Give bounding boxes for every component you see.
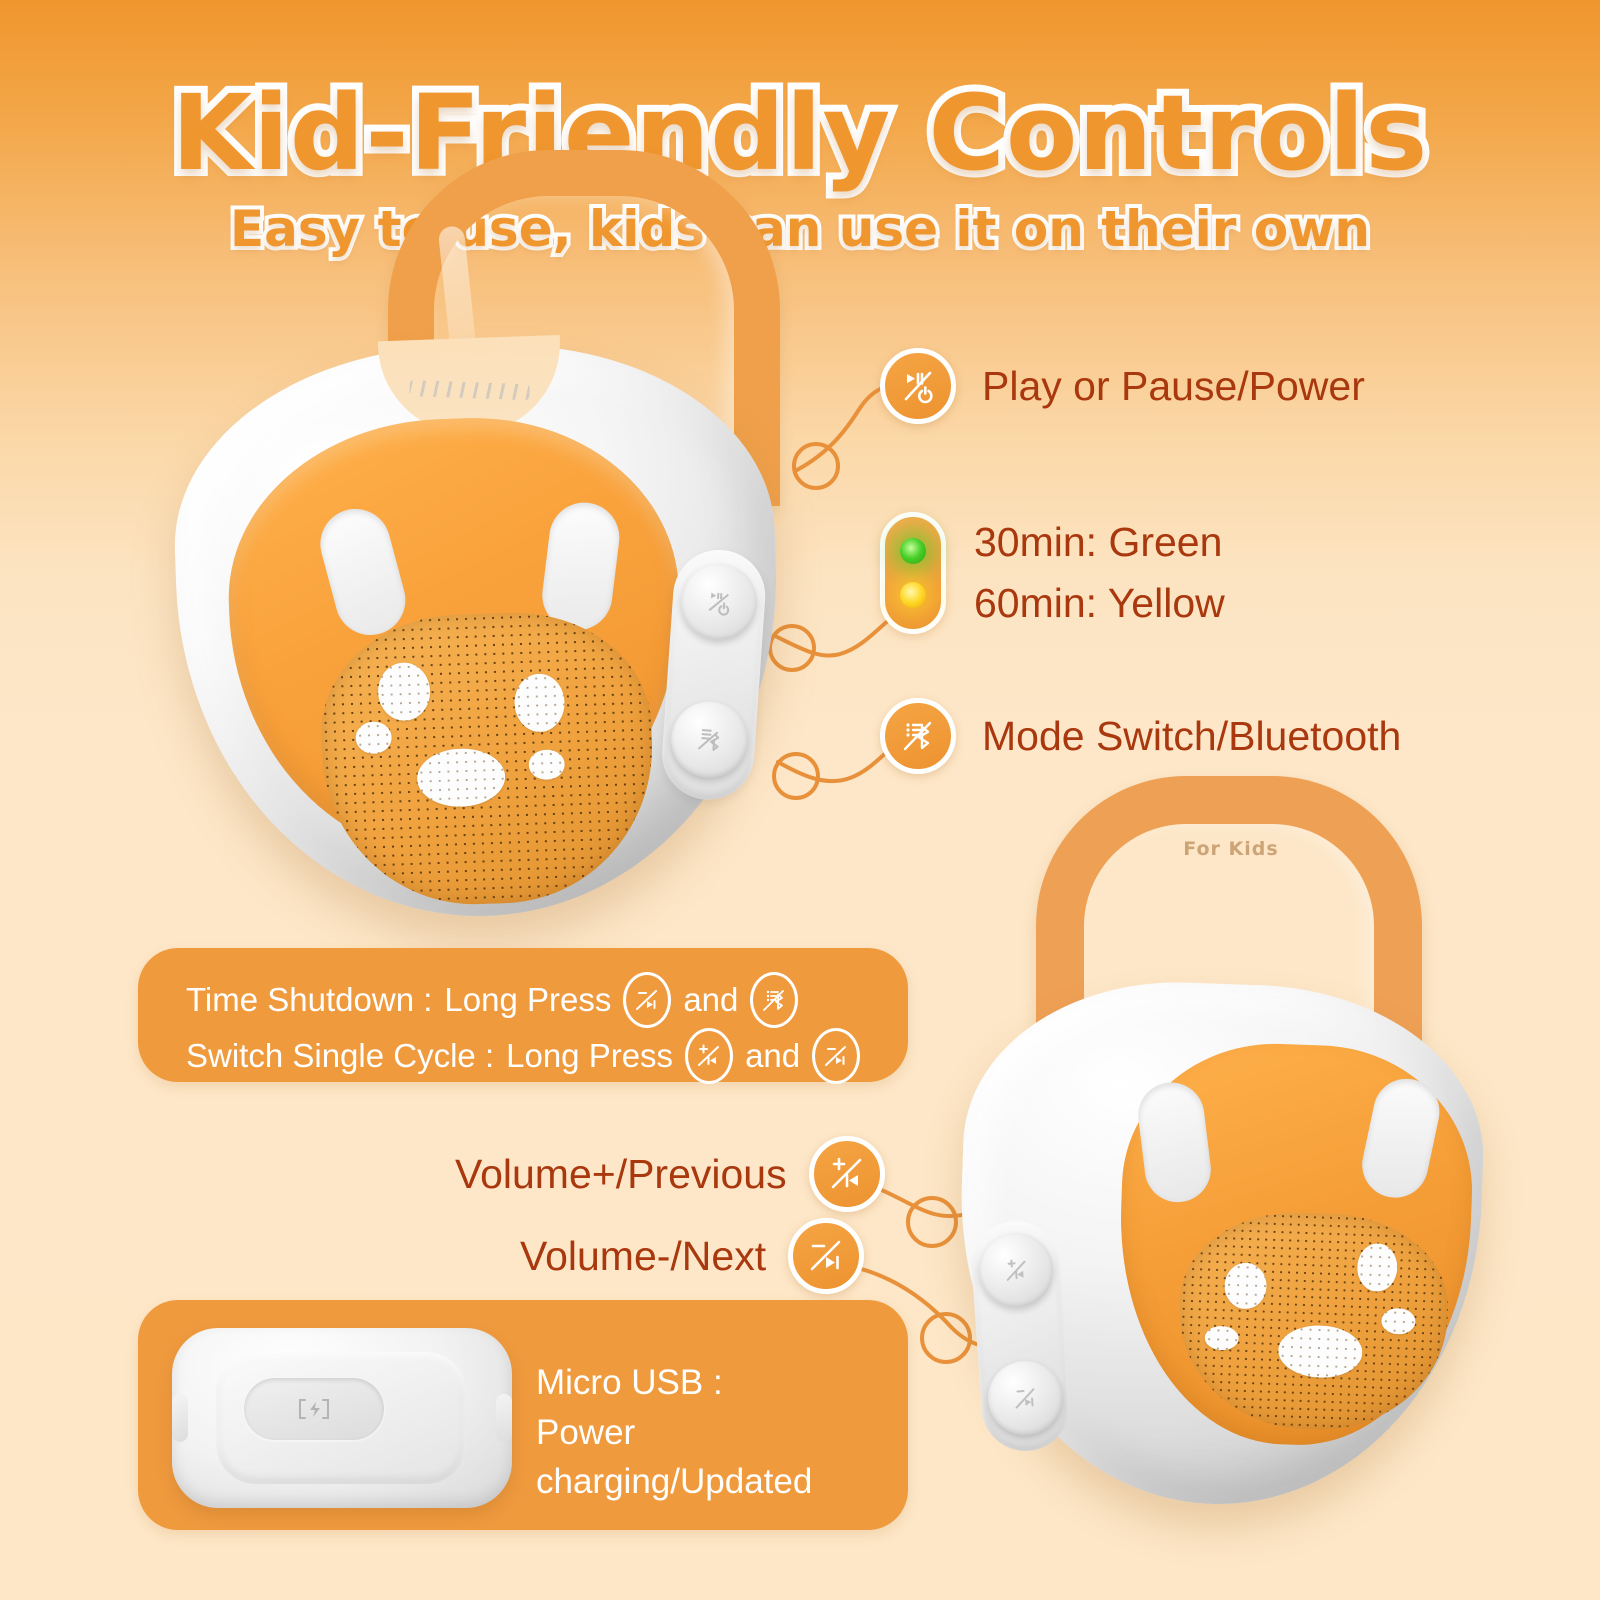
volume-up-previous-icon: [809, 1136, 885, 1212]
charging-battery-icon: [244, 1378, 384, 1440]
volume-down-next-icon: [788, 1218, 864, 1294]
speaker-body: [951, 975, 1489, 1513]
volume-down-next-icon: [812, 1028, 860, 1084]
product-image-bottom: [172, 1328, 512, 1508]
port-tab-right: [496, 1394, 512, 1442]
button-column-front: [659, 547, 768, 803]
product-image-front: [150, 150, 810, 930]
mode-bluetooth-button[interactable]: [669, 699, 750, 780]
shortcut-label: Switch Single Cycle :: [186, 1037, 494, 1075]
callout-label: Play or Pause/Power: [982, 363, 1365, 410]
led-line-60min: 60min: Yellow: [974, 580, 1225, 627]
port-tab-left: [172, 1394, 188, 1442]
volume-down-next-button[interactable]: [985, 1358, 1064, 1437]
speaker-face-bezel: [223, 411, 688, 866]
volume-down-next-icon: [623, 972, 671, 1028]
callout-volume-up-previous[interactable]: Volume+/Previous: [455, 1136, 885, 1212]
infographic-canvas: Kid-Friendly Controls Easy to use, kids …: [0, 0, 1600, 1600]
face-cheek-left: [355, 721, 392, 754]
volume-up-previous-icon: [685, 1028, 733, 1084]
usb-description: Power charging/Updated: [536, 1408, 908, 1507]
speaker-face-bezel: [1113, 1039, 1477, 1451]
face-eye-left: [377, 662, 431, 722]
face-cheek-right: [1381, 1308, 1416, 1335]
shortcut-action: Long Press: [506, 1037, 673, 1075]
usb-title: Micro USB :: [536, 1358, 908, 1408]
callout-volume-down-next[interactable]: Volume-/Next: [520, 1218, 864, 1294]
mode-list-bluetooth-icon: [750, 972, 798, 1028]
play-power-button[interactable]: [678, 561, 759, 642]
shortcut-panel: Time Shutdown : Long Press and: [138, 948, 908, 1082]
ear-left: [312, 501, 413, 643]
ear-right: [1356, 1073, 1446, 1204]
speaker-body: [168, 336, 788, 927]
face-cheek-right: [528, 749, 565, 780]
face-eye-right: [1356, 1243, 1398, 1292]
led-green: [900, 538, 926, 564]
led-line-30min: 30min: Green: [974, 519, 1225, 566]
usb-panel: Micro USB : Power charging/Updated: [138, 1300, 908, 1530]
callout-label: Mode Switch/Bluetooth: [982, 713, 1401, 760]
ear-left: [1134, 1079, 1214, 1206]
speaker-grille: [1176, 1209, 1451, 1434]
volume-up-previous-button[interactable]: [977, 1231, 1056, 1310]
shortcut-line-2: Switch Single Cycle : Long Press and: [186, 1028, 860, 1084]
led-yellow: [900, 582, 926, 608]
face-muzzle: [1277, 1324, 1363, 1379]
button-column-side: [969, 1218, 1073, 1454]
product-image-side: For Kids: [950, 770, 1510, 1550]
callout-play-power[interactable]: Play or Pause/Power: [880, 348, 1365, 424]
speaker-grille: [318, 608, 658, 909]
face-muzzle: [416, 747, 506, 808]
face-eye-left: [1224, 1262, 1268, 1309]
shortcut-label: Time Shutdown :: [186, 981, 432, 1019]
handle-embossed-text: For Kids: [1146, 838, 1316, 860]
callout-label: Volume-/Next: [520, 1233, 766, 1280]
ear-right: [538, 499, 623, 635]
face-eye-right: [514, 673, 566, 733]
shortcut-action: Long Press: [444, 981, 611, 1019]
shortcut-line-1: Time Shutdown : Long Press and: [186, 972, 798, 1028]
callout-label: Volume+/Previous: [455, 1151, 787, 1198]
shortcut-conjunction: and: [745, 1037, 800, 1075]
mode-list-bluetooth-icon: [880, 698, 956, 774]
usb-text-block: Micro USB : Power charging/Updated: [536, 1358, 908, 1507]
led-indicator-pill: [880, 512, 946, 634]
play-pause-power-icon: [880, 348, 956, 424]
shortcut-conjunction: and: [683, 981, 738, 1019]
face-cheek-left: [1204, 1326, 1239, 1351]
callout-mode-bluetooth[interactable]: Mode Switch/Bluetooth: [880, 698, 1401, 774]
callout-led-indicator[interactable]: 30min: Green 60min: Yellow: [880, 512, 1225, 634]
